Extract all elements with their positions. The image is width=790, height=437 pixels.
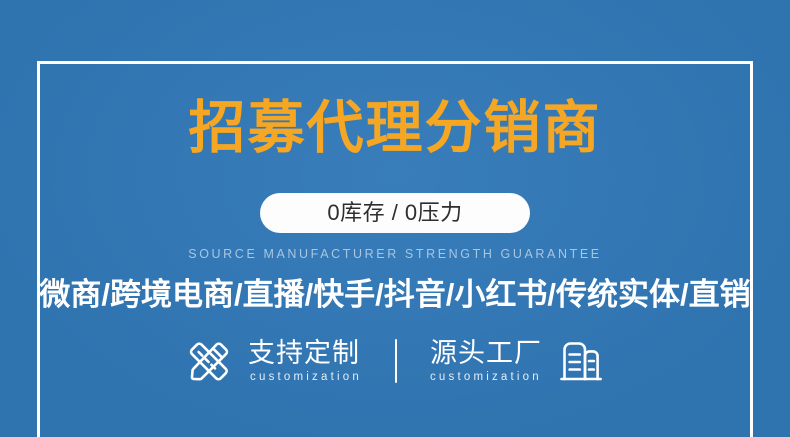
feature-factory-subtitle: customization [430, 369, 542, 385]
factory-building-icon [555, 335, 607, 387]
channel-list: 微商/跨境电商/直播/快手/抖音/小红书/传统实体/直销 [0, 276, 790, 314]
feature-customization-subtitle: customization [248, 369, 362, 385]
status-badge: 0库存 / 0压力 [260, 193, 530, 233]
feature-factory: 源头工厂 customization [430, 330, 607, 392]
feature-row: 支持定制 customization 源头工厂 customization [0, 330, 790, 392]
banner-subtitle: SOURCE MANUFACTURER STRENGTH GUARANTEE [0, 245, 790, 263]
pencil-ruler-icon [183, 335, 235, 387]
banner-content: 招募代理分销商 0库存 / 0压力 SOURCE MANUFACTURER ST… [0, 0, 790, 437]
feature-customization: 支持定制 customization [183, 330, 362, 392]
feature-factory-title: 源头工厂 [430, 338, 542, 369]
feature-divider [395, 339, 397, 383]
feature-customization-title: 支持定制 [248, 338, 360, 369]
feature-factory-text: 源头工厂 customization [430, 338, 542, 385]
feature-customization-text: 支持定制 customization [248, 338, 362, 385]
promo-banner: 招募代理分销商 0库存 / 0压力 SOURCE MANUFACTURER ST… [0, 0, 790, 437]
page-title: 招募代理分销商 [0, 95, 790, 161]
